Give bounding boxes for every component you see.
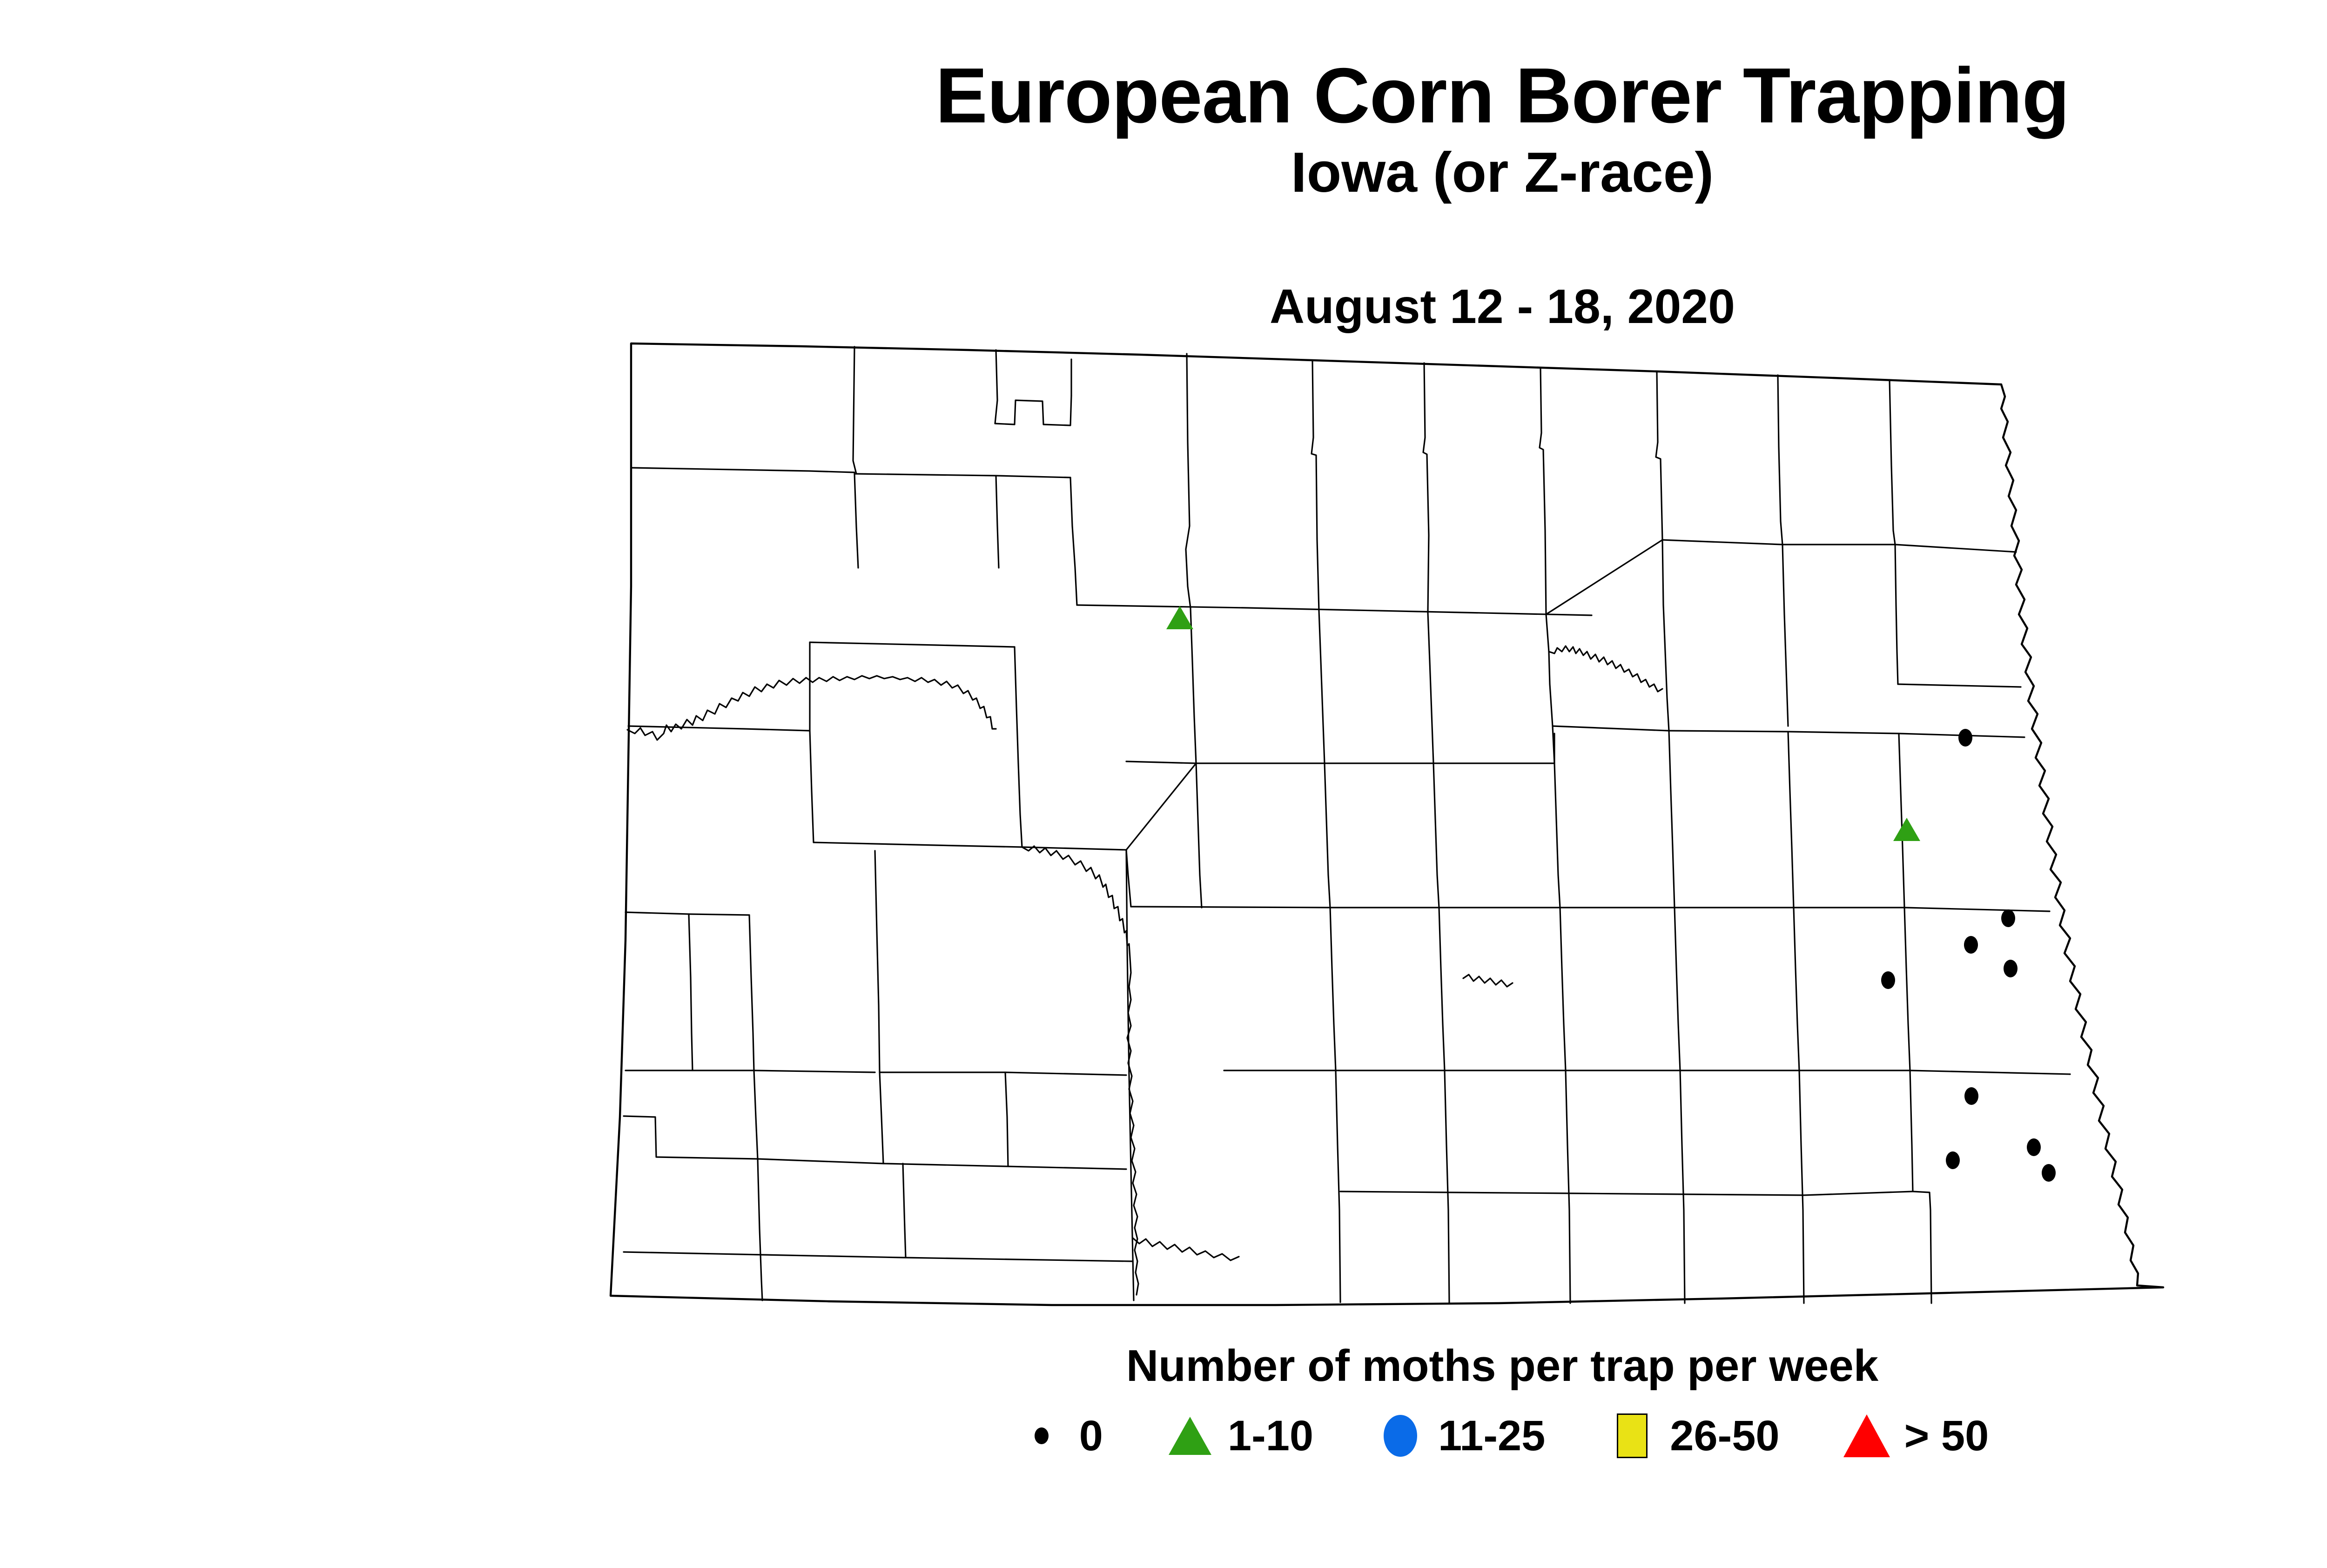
legend-label-3: 26-50	[1670, 1412, 1779, 1460]
map-page: European Corn Borer Trapping Iowa (or Z-…	[0, 0, 2327, 1568]
marker-dot-black	[1964, 1087, 1978, 1105]
legend-item-0: 0	[1016, 1410, 1103, 1461]
page-title: European Corn Borer Trapping	[0, 56, 2327, 135]
marker-dot-black	[1946, 1151, 1960, 1169]
legend-item-4: > 50	[1841, 1410, 1989, 1461]
marker-dot-black	[1964, 936, 1978, 954]
north-dakota-map	[549, 326, 2206, 1331]
red-triangle-icon	[1841, 1410, 1892, 1461]
legend-title: Number of moths per trap per week	[0, 1340, 2327, 1392]
legend-label-2: 11-25	[1438, 1412, 1545, 1460]
legend: 0 1-10 11-25 26-50 > 50	[0, 1410, 2327, 1461]
legend-label-1: 1-10	[1228, 1412, 1313, 1460]
blue-circle-icon	[1375, 1410, 1426, 1461]
legend-label-0: 0	[1079, 1412, 1103, 1460]
legend-item-3: 26-50	[1607, 1410, 1779, 1461]
green-triangle-icon	[1164, 1410, 1216, 1461]
legend-item-2: 11-25	[1375, 1410, 1545, 1461]
marker-dot-black	[1958, 729, 1972, 747]
state-outline	[611, 343, 2163, 1305]
yellow-square-icon	[1607, 1410, 1658, 1461]
legend-label-4: > 50	[1904, 1412, 1989, 1460]
legend-item-1: 1-10	[1164, 1410, 1313, 1461]
marker-dot-black	[1881, 971, 1895, 989]
marker-dot-black	[2001, 909, 2015, 927]
map-svg	[549, 326, 2206, 1331]
black-dot-icon	[1016, 1410, 1067, 1461]
title-block: European Corn Borer Trapping Iowa (or Z-…	[0, 56, 2327, 206]
marker-dot-black	[2027, 1138, 2041, 1156]
marker-dot-black	[2042, 1164, 2056, 1182]
page-subtitle: Iowa (or Z-race)	[0, 139, 2327, 206]
marker-dot-black	[2004, 960, 2018, 977]
